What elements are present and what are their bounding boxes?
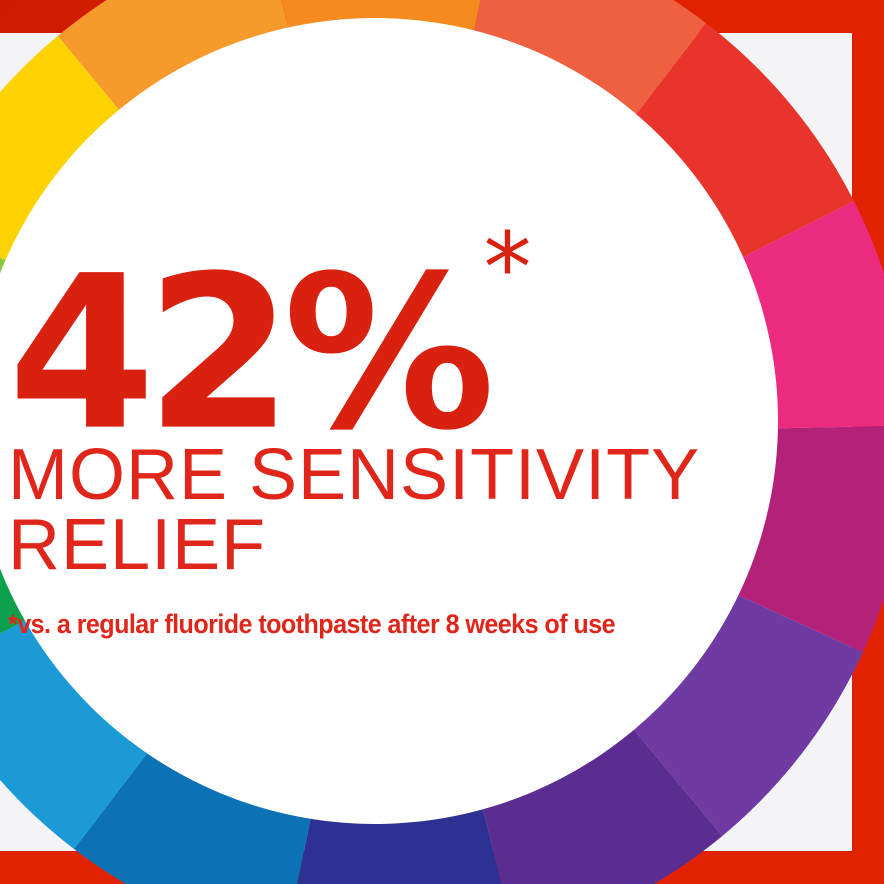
claim-line-2: RELIEF [8,510,768,580]
stat-superscript-asterisk: * [483,212,531,324]
stat-headline: 42%* [8,222,533,454]
footnote-disclaimer: *vs. a regular fluoride toothpaste after… [8,608,615,640]
claim-line-1: MORE SENSITIVITY [8,440,768,510]
claim-headline: MORE SENSITIVITY RELIEF [8,440,768,580]
promo-content: 42%* MORE SENSITIVITY RELIEF *vs. a regu… [0,0,884,884]
promo-graphic: 42%* MORE SENSITIVITY RELIEF *vs. a regu… [0,0,884,884]
